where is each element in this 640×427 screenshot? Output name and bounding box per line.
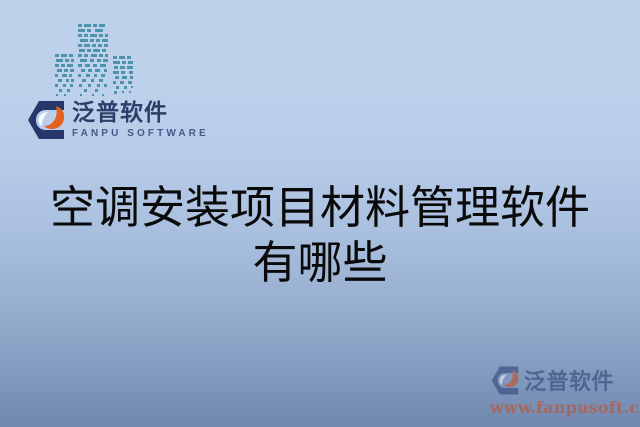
brand-lockup: 泛普软件 FANPU SOFTWARE [26,99,209,141]
fanpu-hexagon-logo-icon [490,365,520,396]
fanpu-hexagon-logo-icon [26,99,66,141]
page-title-line-1: 空调安装项目材料管理软件 [0,180,640,235]
watermark-url: www.fanpusoft.com [490,398,636,417]
watermark-logo-row: 泛普软件 [490,363,636,397]
brand-name-en: FANPU SOFTWARE [72,129,209,139]
page-title: 空调安装项目材料管理软件 有哪些 [0,180,640,291]
brand-wordmark: 泛普软件 FANPU SOFTWARE [72,102,209,139]
watermark-name-cn: 泛普软件 [524,364,614,396]
brand-name-cn: 泛普软件 [72,102,209,125]
pixel-city-skyline-icon [50,18,146,98]
page-title-line-2: 有哪些 [0,235,640,290]
watermark: 泛普软件 www.fanpusoft.com [490,363,636,421]
poster-canvas: 泛普软件 FANPU SOFTWARE 空调安装项目材料管理软件 有哪些 泛普软… [0,0,640,427]
